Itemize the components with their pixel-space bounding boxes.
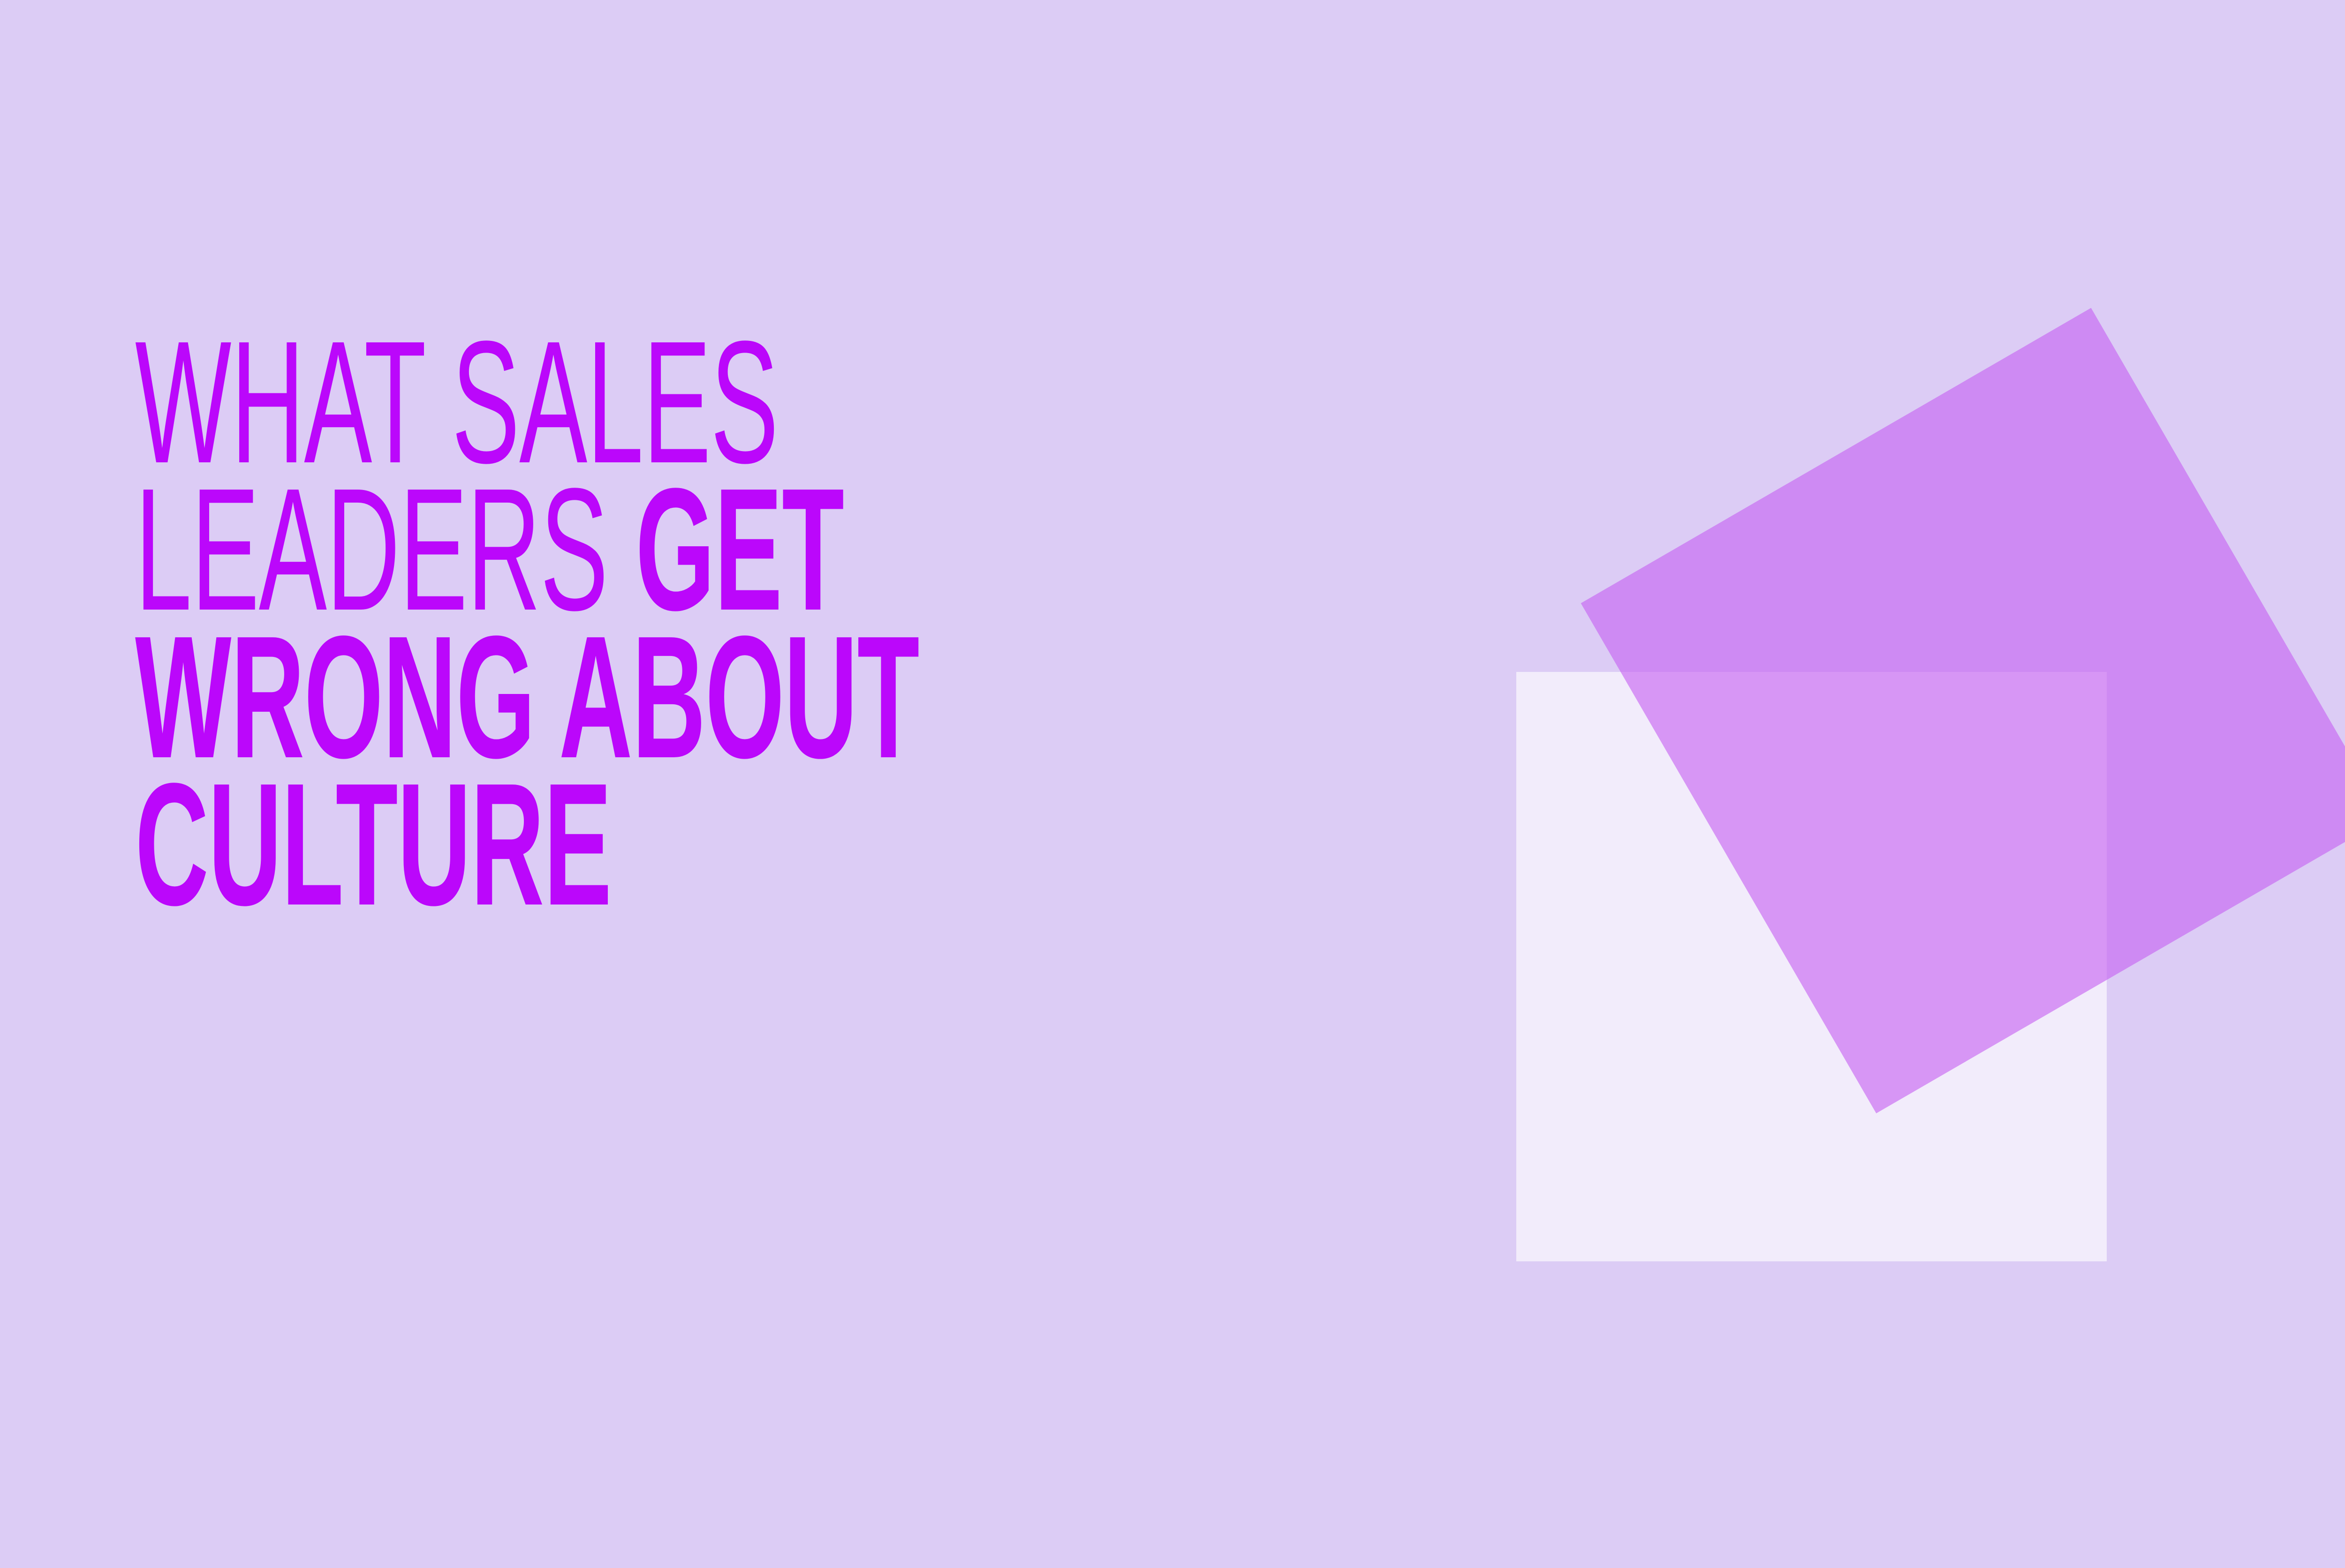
poster-canvas: WHAT SALES LEADERS GET WRONG ABOUT CULTU…: [0, 0, 2345, 1568]
headline-line-4-bold: CULTURE: [135, 746, 611, 942]
headline-line-4: CULTURE: [135, 770, 1496, 918]
headline-block: WHAT SALES LEADERS GET WRONG ABOUT CULTU…: [135, 328, 1495, 918]
